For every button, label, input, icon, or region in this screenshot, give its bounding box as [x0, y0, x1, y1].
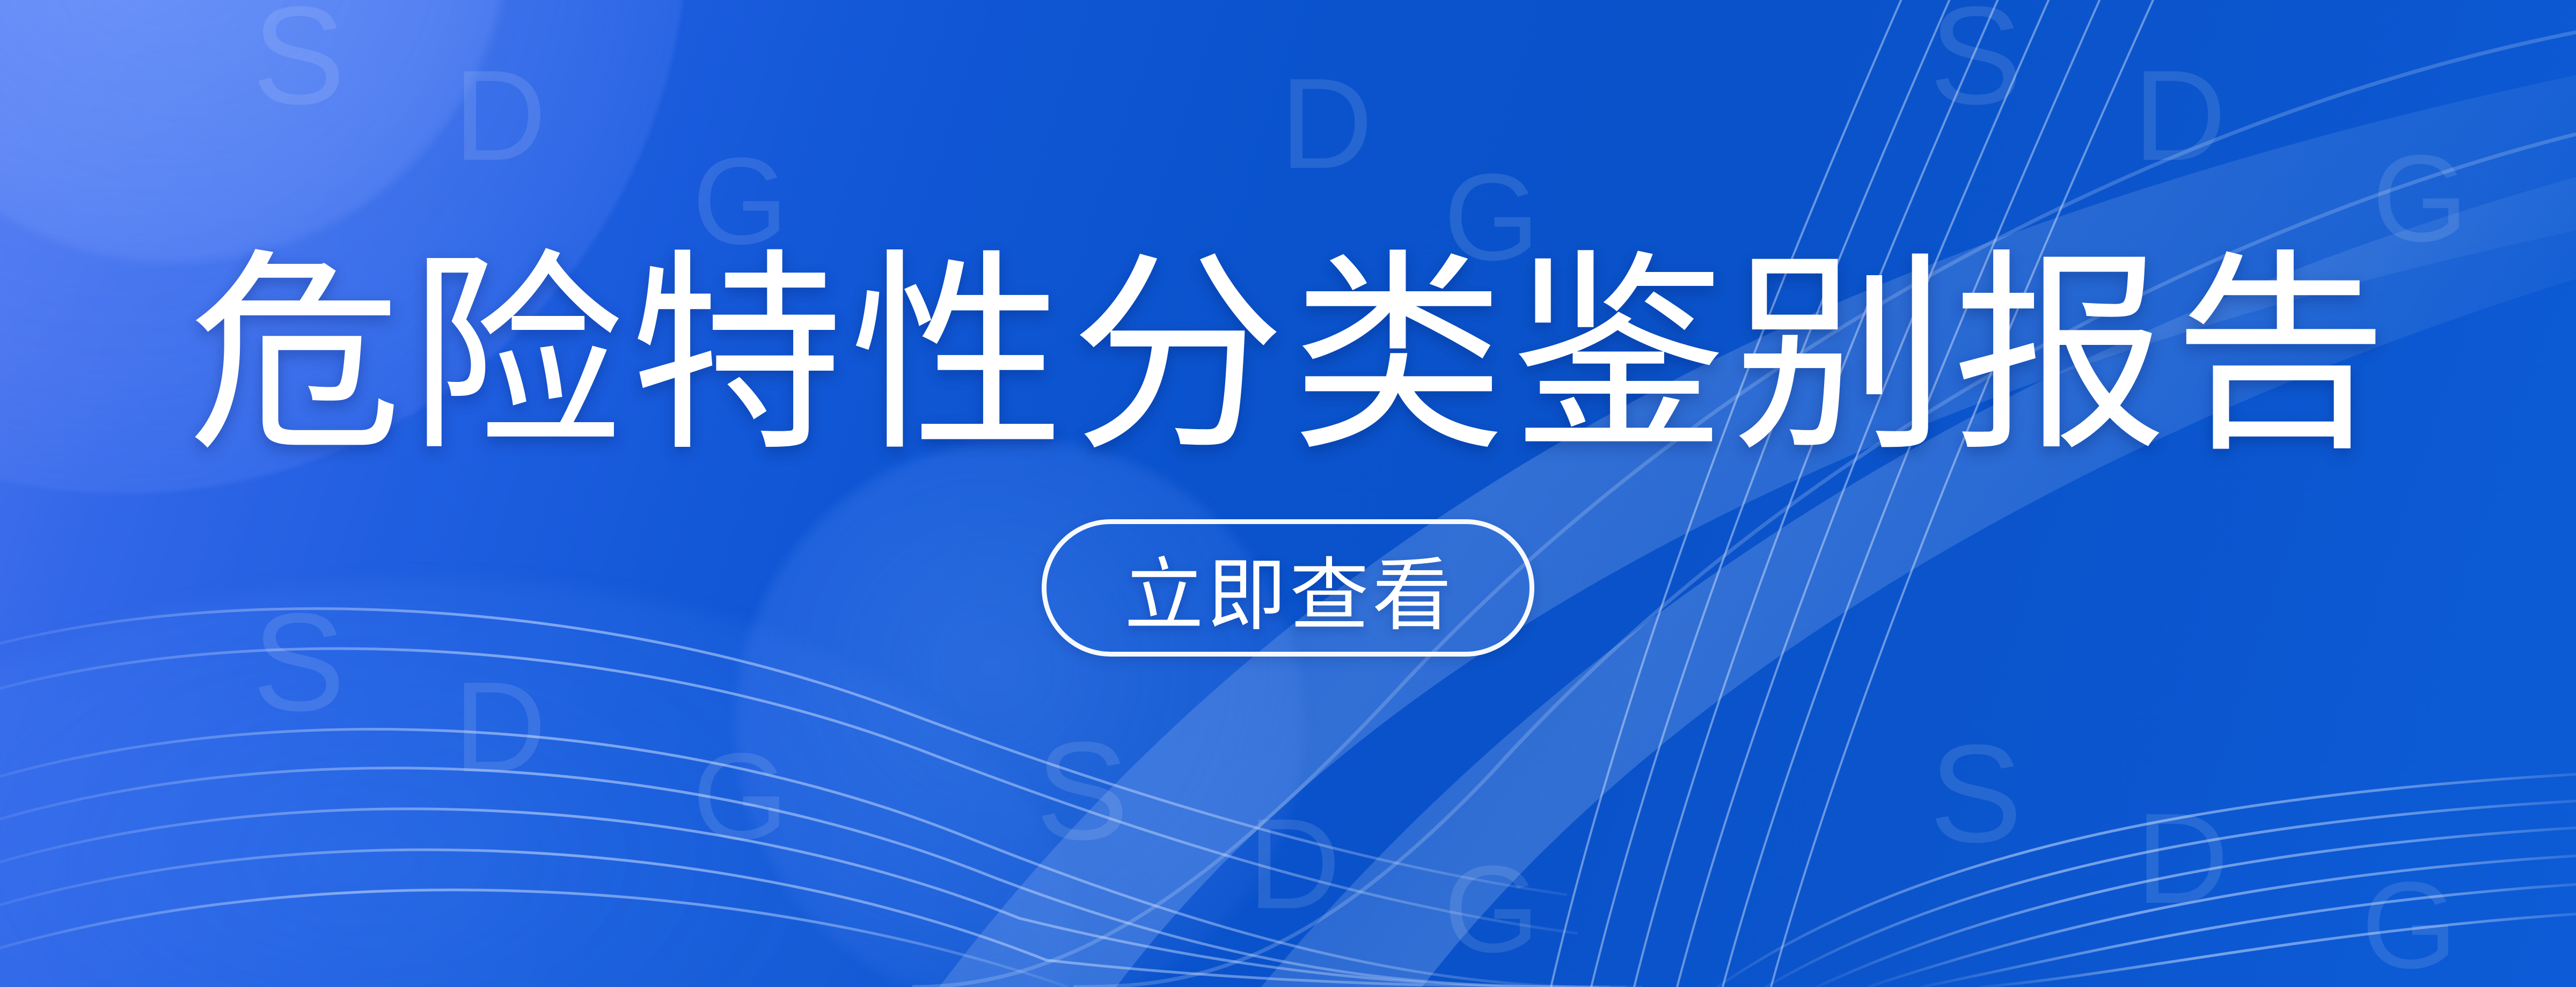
banner-title: 危险特性分类鉴别报告	[182, 242, 2394, 470]
cta-container: 立即查看	[0, 519, 2576, 657]
banner-content: 危险特性分类鉴别报告 立即查看	[0, 0, 2576, 987]
view-now-button[interactable]: 立即查看	[1042, 519, 1534, 657]
promo-banner: S D G D G S D G S D G S D G S D G 危险特性分类…	[0, 0, 2576, 987]
